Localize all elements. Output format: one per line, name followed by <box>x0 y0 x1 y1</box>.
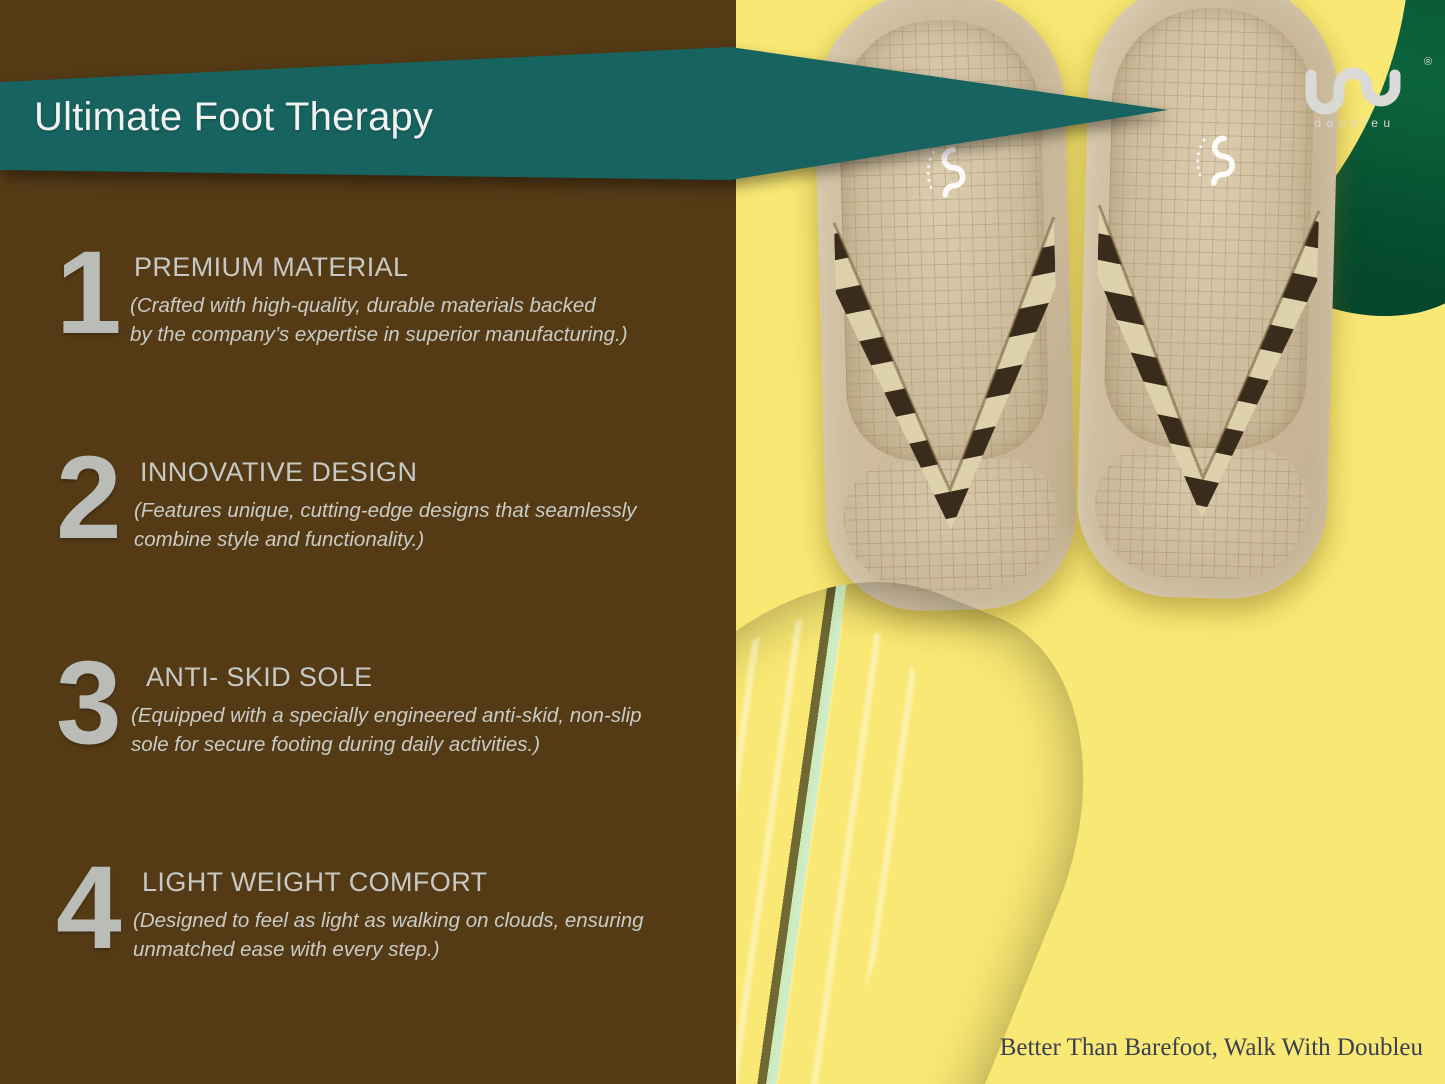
feature-description: (Crafted with high-quality, durable mate… <box>0 291 680 349</box>
feature-title: ANTI- SKID SOLE <box>0 662 680 693</box>
feature-body: PREMIUM MATERIAL (Crafted with high-qual… <box>0 252 680 349</box>
feature-body: LIGHT WEIGHT COMFORT (Designed to feel a… <box>0 867 680 964</box>
feature-description: (Equipped with a specially engineered an… <box>0 701 680 759</box>
sandal-right-sole-texture <box>1093 445 1310 581</box>
sandal-left-sole-texture <box>842 457 1059 593</box>
feature-body: ANTI- SKID SOLE (Equipped with a special… <box>0 662 680 759</box>
registered-trademark-mark: ® <box>1424 56 1432 68</box>
feature-item: 1 PREMIUM MATERIAL (Crafted with high-qu… <box>0 238 736 443</box>
page-title: Ultimate Foot Therapy <box>34 95 433 140</box>
feature-title: INNOVATIVE DESIGN <box>0 457 680 488</box>
feature-list: 1 PREMIUM MATERIAL (Crafted with high-qu… <box>0 238 736 1058</box>
feature-item: 4 LIGHT WEIGHT COMFORT (Designed to feel… <box>0 853 736 1058</box>
poster-canvas: Ultimate Foot Therapy 1 PREMIUM MATERIAL… <box>0 0 1445 1084</box>
tagline: Better Than Barefoot, Walk With Doubleu <box>1000 1034 1423 1062</box>
feature-item: 3 ANTI- SKID SOLE (Equipped with a speci… <box>0 648 736 853</box>
feature-description: (Designed to feel as light as walking on… <box>0 906 680 964</box>
brand-name: doubleu <box>1299 116 1411 130</box>
feature-title: PREMIUM MATERIAL <box>0 252 680 283</box>
feature-description: (Features unique, cutting-edge designs t… <box>0 496 680 554</box>
feature-item: 2 INNOVATIVE DESIGN (Features unique, cu… <box>0 443 736 648</box>
feature-body: INNOVATIVE DESIGN (Features unique, cutt… <box>0 457 680 554</box>
footbed-doubleu-wave-logo-icon <box>1179 127 1245 193</box>
feature-title: LIGHT WEIGHT COMFORT <box>0 867 680 898</box>
